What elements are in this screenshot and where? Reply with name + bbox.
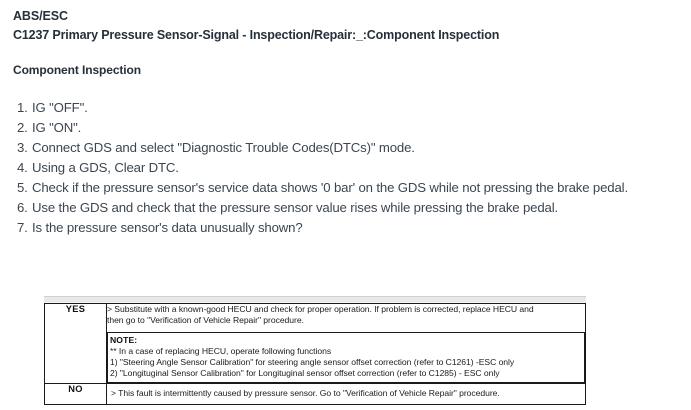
verdict-no-cell: NO bbox=[45, 384, 107, 405]
procedure-step: 3.Connect GDS and select "Diagnostic Tro… bbox=[0, 138, 691, 158]
step-text: Use the GDS and check that the pressure … bbox=[32, 200, 558, 215]
dtc-title: C1237 Primary Pressure Sensor-Signal - I… bbox=[13, 26, 691, 45]
action-text-line: then go to "Verification of Vehicle Repa… bbox=[107, 315, 585, 326]
step-text: Connect GDS and select "Diagnostic Troub… bbox=[32, 140, 415, 155]
table-top-rail bbox=[44, 296, 586, 303]
step-number: 6. bbox=[17, 198, 32, 218]
result-table-container: YES > Substitute with a known-good HECU … bbox=[44, 296, 586, 405]
action-no-cell: > This fault is intermittently caused by… bbox=[107, 384, 586, 405]
note-line: 1) "Steering Angle Sensor Calibration" f… bbox=[110, 357, 581, 368]
step-number: 1. bbox=[17, 98, 32, 118]
document-header: ABS/ESC C1237 Primary Pressure Sensor-Si… bbox=[0, 0, 691, 45]
action-text-line: > This fault is intermittently caused by… bbox=[111, 388, 581, 399]
step-text: Check if the pressure sensor's service d… bbox=[32, 180, 628, 195]
verdict-yes-cell: YES bbox=[45, 304, 107, 384]
table-row: YES > Substitute with a known-good HECU … bbox=[45, 304, 586, 384]
procedure-step: 2.IG "ON". bbox=[0, 118, 691, 138]
service-manual-page: ABS/ESC C1237 Primary Pressure Sensor-Si… bbox=[0, 0, 691, 410]
procedure-step: 4.Using a GDS, Clear DTC. bbox=[0, 158, 691, 178]
procedure-step: 1.IG "OFF". bbox=[0, 98, 691, 118]
step-text: Using a GDS, Clear DTC. bbox=[32, 160, 179, 175]
note-line: ** In a case of replacing HECU, operate … bbox=[110, 346, 581, 357]
step-text: IG "OFF". bbox=[32, 100, 88, 115]
note-line: 2) "Longituginal Sensor Calibration" for… bbox=[110, 368, 581, 379]
step-text: IG "ON". bbox=[32, 120, 81, 135]
action-text-line: > Substitute with a known-good HECU and … bbox=[107, 304, 585, 315]
procedure-step: 7.Is the pressure sensor's data unusuall… bbox=[0, 218, 691, 238]
note-title: NOTE: bbox=[110, 335, 581, 346]
system-name: ABS/ESC bbox=[13, 7, 691, 26]
table-row: NO > This fault is intermittently caused… bbox=[45, 384, 586, 405]
step-text: Is the pressure sensor's data unusually … bbox=[32, 220, 303, 235]
action-yes-cell: > Substitute with a known-good HECU and … bbox=[107, 304, 586, 384]
step-number: 3. bbox=[17, 138, 32, 158]
section-heading: Component Inspection bbox=[13, 63, 691, 77]
step-number: 2. bbox=[17, 118, 32, 138]
step-number: 7. bbox=[17, 218, 32, 238]
procedure-step: 5.Check if the pressure sensor's service… bbox=[0, 178, 691, 198]
procedure-step: 6.Use the GDS and check that the pressur… bbox=[0, 198, 691, 218]
step-number: 4. bbox=[17, 158, 32, 178]
procedure-step-list: 1.IG "OFF". 2.IG "ON". 3.Connect GDS and… bbox=[0, 98, 691, 238]
step-number: 5. bbox=[17, 178, 32, 198]
note-box: NOTE: ** In a case of replacing HECU, op… bbox=[107, 332, 585, 383]
diagnosis-result-table: YES > Substitute with a known-good HECU … bbox=[44, 303, 586, 405]
